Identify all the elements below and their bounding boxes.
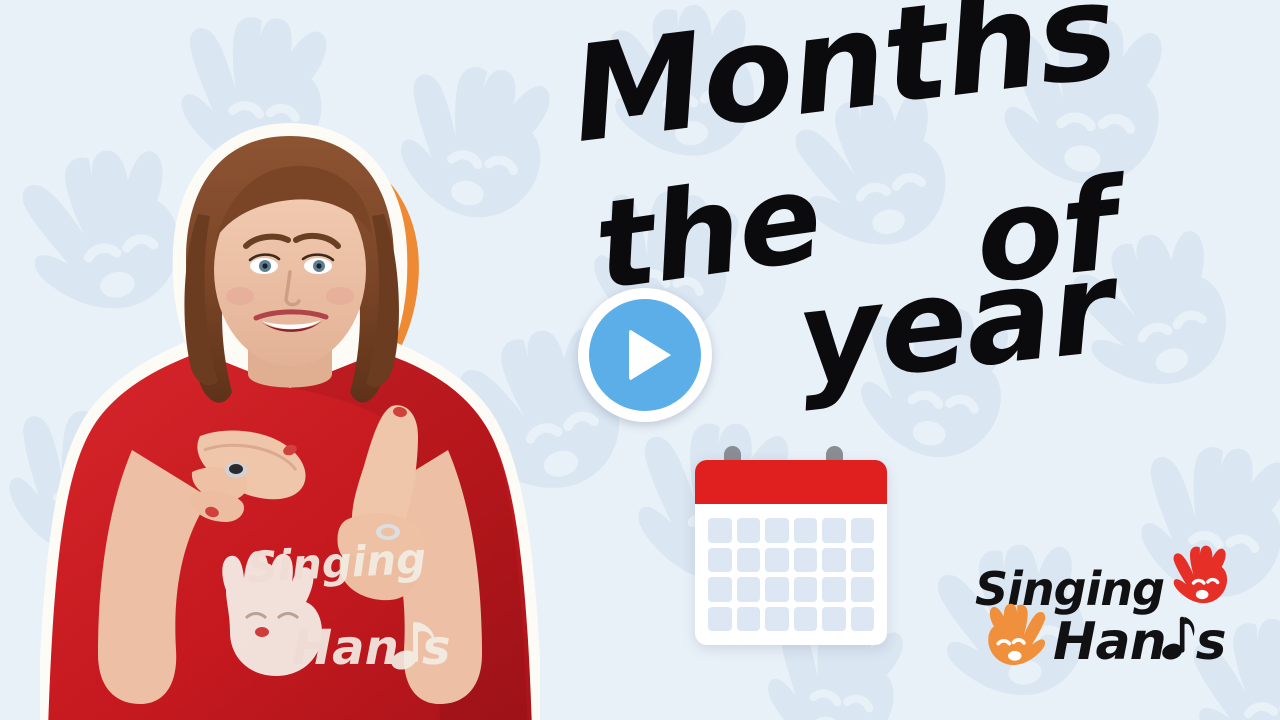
- presenter-photo: Singing Han s: [40, 120, 540, 720]
- logo-text-hands-prefix: Han: [1053, 619, 1166, 666]
- svg-text:Han: Han: [292, 620, 399, 676]
- thumbnail-canvas: Singing Han s Months the of year: [0, 0, 1280, 720]
- calendar-day-cell: [708, 518, 732, 543]
- calendar-day-cell: [822, 548, 846, 573]
- play-triangle-icon: [629, 329, 671, 381]
- orange-smiling-hand-icon: [985, 602, 1047, 668]
- calendar-day-cell: [765, 548, 789, 573]
- calendar-day-cell: [765, 518, 789, 543]
- calendar-day-cell: [765, 577, 789, 602]
- calendar-day-cell: [765, 607, 789, 632]
- background-hand-tile: [784, 76, 965, 269]
- background-hand-tile: [847, 288, 1023, 477]
- calendar-day-cell: [794, 518, 818, 543]
- logo-row-singing: Singing: [975, 544, 1230, 610]
- calendar-day-cell: [708, 548, 732, 573]
- play-button[interactable]: [578, 288, 712, 422]
- svg-text:Singing: Singing: [246, 534, 427, 592]
- calendar-day-cell: [737, 607, 761, 632]
- calendar-day-cell: [708, 577, 732, 602]
- logo-text-hands-suffix: s: [1196, 619, 1226, 666]
- red-smiling-hand-icon: [1172, 544, 1230, 606]
- calendar-day-cell: [822, 607, 846, 632]
- svg-text:s: s: [422, 620, 451, 676]
- background-hand-tile: [993, 4, 1176, 202]
- play-button-disc: [589, 299, 701, 411]
- calendar-day-cell: [737, 548, 761, 573]
- music-note-icon: [1162, 612, 1196, 664]
- calendar-day-cell: [851, 577, 875, 602]
- calendar-header: [695, 460, 887, 504]
- calendar-day-cell: [708, 607, 732, 632]
- calendar-day-cell: [822, 577, 846, 602]
- background-hand-tile: [604, 0, 765, 170]
- calendar-day-cell: [794, 548, 818, 573]
- calendar-day-cell: [822, 518, 846, 543]
- calendar-day-cell: [851, 548, 875, 573]
- calendar-day-cell: [794, 607, 818, 632]
- calendar-day-cell: [794, 577, 818, 602]
- calendar-day-cell: [851, 518, 875, 543]
- singing-hands-logo: Singing Han s: [975, 540, 1225, 680]
- calendar-day-cell: [737, 518, 761, 543]
- calendar-grid: [695, 504, 887, 645]
- calendar-day-cell: [737, 577, 761, 602]
- calendar-icon: [695, 460, 887, 645]
- calendar-day-cell: [851, 607, 875, 632]
- background-hand-tile: [1060, 213, 1250, 413]
- logo-row-hands: Han s: [985, 602, 1226, 666]
- calendar-body: [695, 460, 887, 645]
